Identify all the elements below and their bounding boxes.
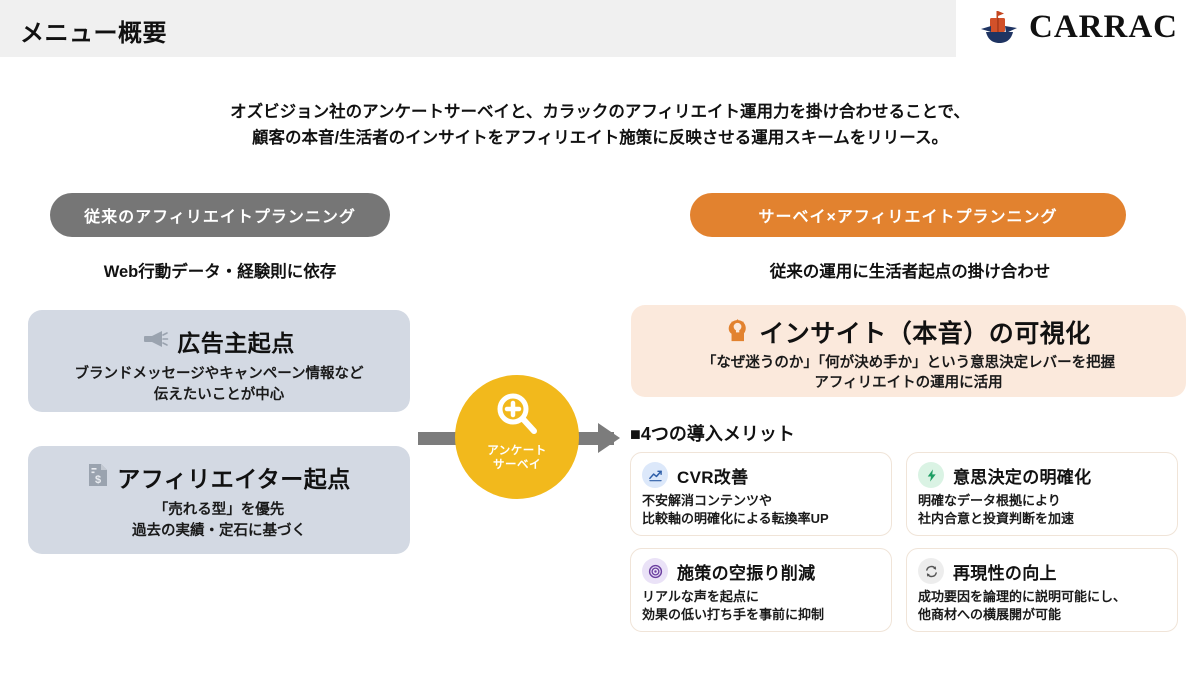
merit-card-cvr: CVR改善 不安解消コンテンツや 比較軸の明確化による転換率UP <box>630 452 892 536</box>
merit-card-header: 意思決定の明確化 <box>918 462 1166 488</box>
merit-body-line-2: 比較軸の明確化による転換率UP <box>642 510 880 528</box>
line-chart-icon <box>642 462 668 488</box>
left-card-affiliater: $ アフィリエイター起点 「売れる型」を優先 過去の実績・定石に基づく <box>28 446 410 554</box>
merit-card-waste-reduction: 施策の空振り削減 リアルな声を起点に 効果の低い打ち手を事前に抑制 <box>630 548 892 632</box>
insight-body-line-2: アフィリエイトの運用に活用 <box>631 373 1186 393</box>
slide-root: メニュー概要 CARRAC オズビジョン社のアンケートサーベイと、カラックのアフ… <box>0 0 1200 675</box>
left-card-title: 広告主起点 <box>177 324 295 358</box>
left-card-body-line-2: 過去の実績・定石に基づく <box>28 521 410 542</box>
merit-body-line-1: 明確なデータ根拠により <box>918 492 1166 510</box>
left-column-subtitle: Web行動データ・経験則に依存 <box>20 258 420 282</box>
insight-header: インサイト（本音）の可視化 <box>631 314 1186 350</box>
right-column-pill: サーベイ×アフィリエイトプランニング <box>690 193 1126 237</box>
brand-logo: CARRAC <box>977 8 1178 46</box>
merit-body-line-2: 効果の低い打ち手を事前に抑制 <box>642 606 880 624</box>
left-column-pill: 従来のアフィリエイトプランニング <box>50 193 390 237</box>
merit-card-decision: 意思決定の明確化 明確なデータ根拠により 社内合意と投資判断を加速 <box>906 452 1178 536</box>
left-card-body-line-1: 「売れる型」を優先 <box>28 500 410 521</box>
lightning-bolt-icon <box>918 462 944 488</box>
magnifier-plus-icon <box>494 391 540 442</box>
left-card-advertiser: 広告主起点 ブランドメッセージやキャンペーン情報など 伝えたいことが中心 <box>28 310 410 412</box>
insight-title: インサイト（本音）の可視化 <box>759 314 1091 350</box>
merit-card-body: 成功要因を論理的に説明可能にし、 他商材への横展開が可能 <box>918 588 1166 624</box>
merits-grid: CVR改善 不安解消コンテンツや 比較軸の明確化による転換率UP 意思決定の明確… <box>630 452 1190 632</box>
merit-card-title: 施策の空振り削減 <box>677 559 815 584</box>
svg-text:$: $ <box>95 474 101 486</box>
refresh-cycle-icon <box>918 558 944 584</box>
lead-paragraph: オズビジョン社のアンケートサーベイと、カラックのアフィリエイト運用力を掛け合わせ… <box>0 100 1200 151</box>
left-card-header: $ アフィリエイター起点 <box>28 460 410 494</box>
merit-body-line-1: 成功要因を論理的に説明可能にし、 <box>918 588 1166 606</box>
merit-card-header: 再現性の向上 <box>918 558 1166 584</box>
merit-card-title: CVR改善 <box>677 463 748 488</box>
left-card-body-line-1: ブランドメッセージやキャンペーン情報など <box>28 364 410 385</box>
merit-card-title: 再現性の向上 <box>953 559 1057 584</box>
merit-card-header: 施策の空振り削減 <box>642 558 880 584</box>
merit-body-line-2: 他商材への横展開が可能 <box>918 606 1166 624</box>
left-card-body: ブランドメッセージやキャンペーン情報など 伝えたいことが中心 <box>28 364 410 406</box>
insight-body: 「なぜ迷うのか」「何が決め手か」という意思決定レバーを把握 アフィリエイトの運用… <box>631 353 1186 394</box>
lead-line-1: オズビジョン社のアンケートサーベイと、カラックのアフィリエイト運用力を掛け合わせ… <box>0 100 1200 126</box>
survey-hub-label: アンケート サーベイ <box>487 444 547 473</box>
insight-box: インサイト（本音）の可視化 「なぜ迷うのか」「何が決め手か」という意思決定レバー… <box>631 305 1186 397</box>
hub-label-line-1: アンケート <box>487 444 547 458</box>
merit-card-body: 不安解消コンテンツや 比較軸の明確化による転換率UP <box>642 492 880 528</box>
merit-body-line-1: リアルな声を起点に <box>642 588 880 606</box>
right-column-subtitle: 従来の運用に生活者起点の掛け合わせ <box>625 258 1195 282</box>
left-card-header: 広告主起点 <box>28 324 410 358</box>
bullseye-target-icon <box>642 558 668 584</box>
merit-body-line-2: 社内合意と投資判断を加速 <box>918 510 1166 528</box>
megaphone-icon <box>143 328 169 355</box>
merit-card-body: リアルな声を起点に 効果の低い打ち手を事前に抑制 <box>642 588 880 624</box>
flow-arrow-head <box>598 423 620 453</box>
page-title: メニュー概要 <box>20 13 167 48</box>
left-card-title: アフィリエイター起点 <box>117 460 351 494</box>
left-card-body-line-2: 伝えたいことが中心 <box>28 385 410 406</box>
logo-wordmark: CARRAC <box>1029 9 1178 46</box>
insight-body-line-1: 「なぜ迷うのか」「何が決め手か」という意思決定レバーを把握 <box>631 353 1186 373</box>
lead-line-2: 顧客の本音/生活者のインサイトをアフィリエイト施策に反映させる運用スキームをリリ… <box>0 126 1200 152</box>
merit-body-line-1: 不安解消コンテンツや <box>642 492 880 510</box>
merits-heading: ■4つの導入メリット <box>630 420 795 446</box>
carrack-ship-icon <box>977 8 1019 46</box>
survey-hub: アンケート サーベイ <box>455 375 579 499</box>
document-dollar-icon: $ <box>87 462 109 493</box>
merit-card-title: 意思決定の明確化 <box>953 463 1091 488</box>
head-lightbulb-icon <box>726 317 750 348</box>
hub-label-line-2: サーベイ <box>487 458 547 472</box>
left-card-body: 「売れる型」を優先 過去の実績・定石に基づく <box>28 500 410 542</box>
merit-card-reproducibility: 再現性の向上 成功要因を論理的に説明可能にし、 他商材への横展開が可能 <box>906 548 1178 632</box>
merit-card-body: 明確なデータ根拠により 社内合意と投資判断を加速 <box>918 492 1166 528</box>
merit-card-header: CVR改善 <box>642 462 880 488</box>
